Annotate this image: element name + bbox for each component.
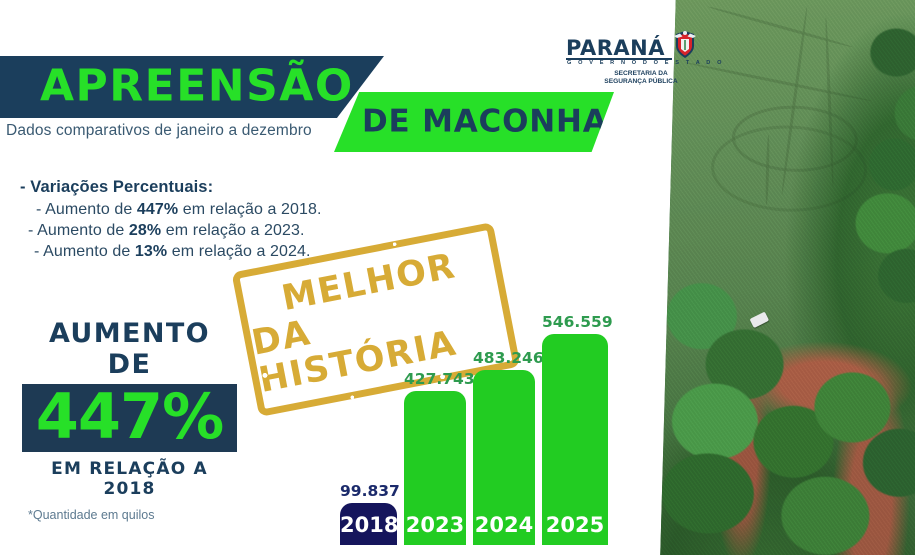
- unit-footnote: *Quantidade em quilos: [28, 508, 154, 522]
- photo-grain: [660, 0, 915, 555]
- bar-group-2025: 546.5592025: [542, 310, 608, 545]
- variation-3-suffix: em relação a 2024.: [167, 243, 310, 260]
- title-banner-primary: APREENSÃO: [0, 56, 384, 118]
- page-title: APREENSÃO: [40, 60, 354, 111]
- headline-percent: 447%: [28, 386, 231, 448]
- variations-title: - Variações Percentuais:: [20, 178, 322, 197]
- bar-value-label: 546.559: [542, 313, 608, 331]
- logo-wordmark: PARANÁ: [566, 36, 665, 60]
- page-subtitle-emphasis: DE MACONHA: [362, 103, 608, 139]
- bar-year-label: 2023: [404, 513, 466, 537]
- headline-number-box: 447%: [22, 384, 237, 452]
- parana-government-logo: PARANÁ G O V E R N O D O E S T A D O SEC…: [566, 30, 694, 86]
- variation-2-suffix: em relação a 2023.: [161, 222, 304, 239]
- variation-line-1: - Aumento de 447% em relação a 2018.: [20, 201, 322, 219]
- variation-1-value: 447%: [137, 201, 178, 218]
- seizure-bar-chart: 99.8372018427.7432023483.2462024546.5592…: [340, 270, 640, 545]
- bar-group-2018: 99.8372018: [340, 479, 397, 545]
- bar-year-label: 2024: [473, 513, 535, 537]
- parana-coat-of-arms-icon: [674, 30, 696, 60]
- variation-1-suffix: em relação a 2018.: [178, 201, 321, 218]
- variation-line-3: - Aumento de 13% em relação a 2024.: [20, 243, 322, 261]
- variation-3-value: 13%: [135, 243, 167, 260]
- header-subtitle: Dados comparativos de janeiro a dezembro: [6, 122, 312, 140]
- bar-group-2024: 483.2462024: [473, 346, 535, 545]
- variation-3-prefix: - Aumento de: [34, 243, 135, 260]
- headline-increase-block: AUMENTO DE 447% EM RELAÇÃO A 2018: [22, 318, 237, 499]
- logo-government-line: G O V E R N O D O E S T A D O: [567, 60, 724, 66]
- bar-year-label: 2018: [340, 513, 397, 537]
- variation-2-value: 28%: [129, 222, 161, 239]
- infographic-canvas: APREENSÃO DE MACONHA Dados comparativos …: [0, 0, 915, 555]
- percent-variations-block: - Variações Percentuais: - Aumento de 44…: [20, 178, 322, 264]
- bar-value-label: 99.837: [340, 482, 397, 500]
- variation-2-prefix: - Aumento de: [28, 222, 129, 239]
- bar-value-label: 483.246: [473, 349, 535, 367]
- plantation-photo: [660, 0, 915, 555]
- bar-year-label: 2025: [542, 513, 608, 537]
- title-banner-secondary: DE MACONHA: [334, 92, 614, 152]
- bar-value-label: 427.743: [404, 370, 466, 388]
- variation-line-2: - Aumento de 28% em relação a 2023.: [20, 222, 322, 240]
- logo-secretariat-line2: SEGURANÇA PÚBLICA: [598, 78, 684, 86]
- variation-1-prefix: - Aumento de: [36, 201, 137, 218]
- headline-bottom-label: EM RELAÇÃO A 2018: [22, 459, 237, 499]
- headline-top-label: AUMENTO DE: [22, 318, 237, 380]
- bar-group-2023: 427.7432023: [404, 367, 466, 545]
